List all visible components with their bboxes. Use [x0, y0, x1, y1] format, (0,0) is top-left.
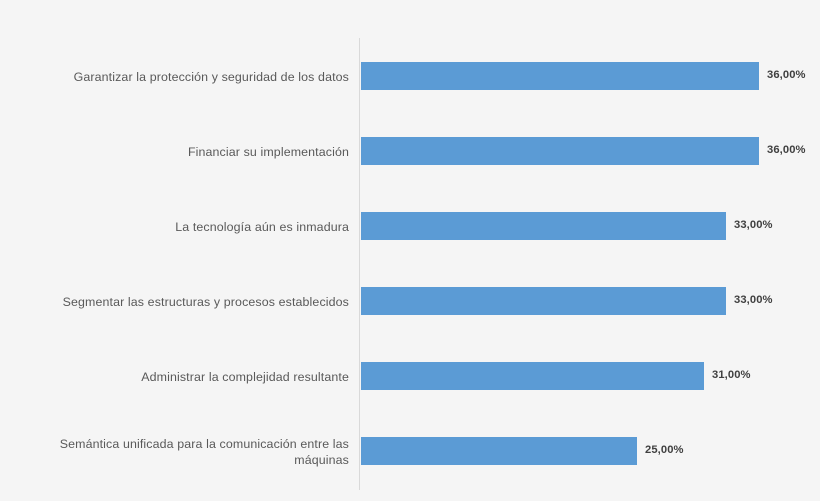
- bar-row[interactable]: Garantizar la protección y seguridad de …: [0, 39, 820, 114]
- bar[interactable]: [361, 362, 704, 390]
- bar-track: [361, 362, 704, 390]
- bar-row[interactable]: Segmentar las estructuras y procesos est…: [0, 264, 820, 339]
- bar-row[interactable]: Financiar su implementación 36,00%: [0, 114, 820, 189]
- category-label: Segmentar las estructuras y procesos est…: [9, 294, 349, 310]
- category-label: Semántica unificada para la comunicación…: [9, 436, 349, 468]
- category-label: Administrar la complejidad resultante: [9, 369, 349, 385]
- value-label: 33,00%: [734, 219, 773, 231]
- value-label: 33,00%: [734, 294, 773, 306]
- bar[interactable]: [361, 287, 726, 315]
- category-label: La tecnología aún es inmadura: [9, 219, 349, 235]
- category-label: Garantizar la protección y seguridad de …: [9, 69, 349, 85]
- bar-row[interactable]: La tecnología aún es inmadura 33,00%: [0, 189, 820, 264]
- horizontal-bar-chart: Garantizar la protección y seguridad de …: [0, 0, 820, 501]
- bar-track: [361, 62, 759, 90]
- category-label: Financiar su implementación: [9, 144, 349, 160]
- value-label: 31,00%: [712, 369, 751, 381]
- bar[interactable]: [361, 62, 759, 90]
- value-label: 36,00%: [767, 69, 806, 81]
- bar-row[interactable]: Administrar la complejidad resultante 31…: [0, 339, 820, 414]
- bar[interactable]: [361, 437, 637, 465]
- value-label: 25,00%: [645, 444, 684, 456]
- value-label: 36,00%: [767, 144, 806, 156]
- bar[interactable]: [361, 137, 759, 165]
- bar-track: [361, 287, 726, 315]
- plot-area: Garantizar la protección y seguridad de …: [0, 0, 820, 501]
- bar-track: [361, 137, 759, 165]
- bar-track: [361, 212, 726, 240]
- bar[interactable]: [361, 212, 726, 240]
- bar-row[interactable]: Semántica unificada para la comunicación…: [0, 414, 820, 489]
- bar-track: [361, 437, 637, 465]
